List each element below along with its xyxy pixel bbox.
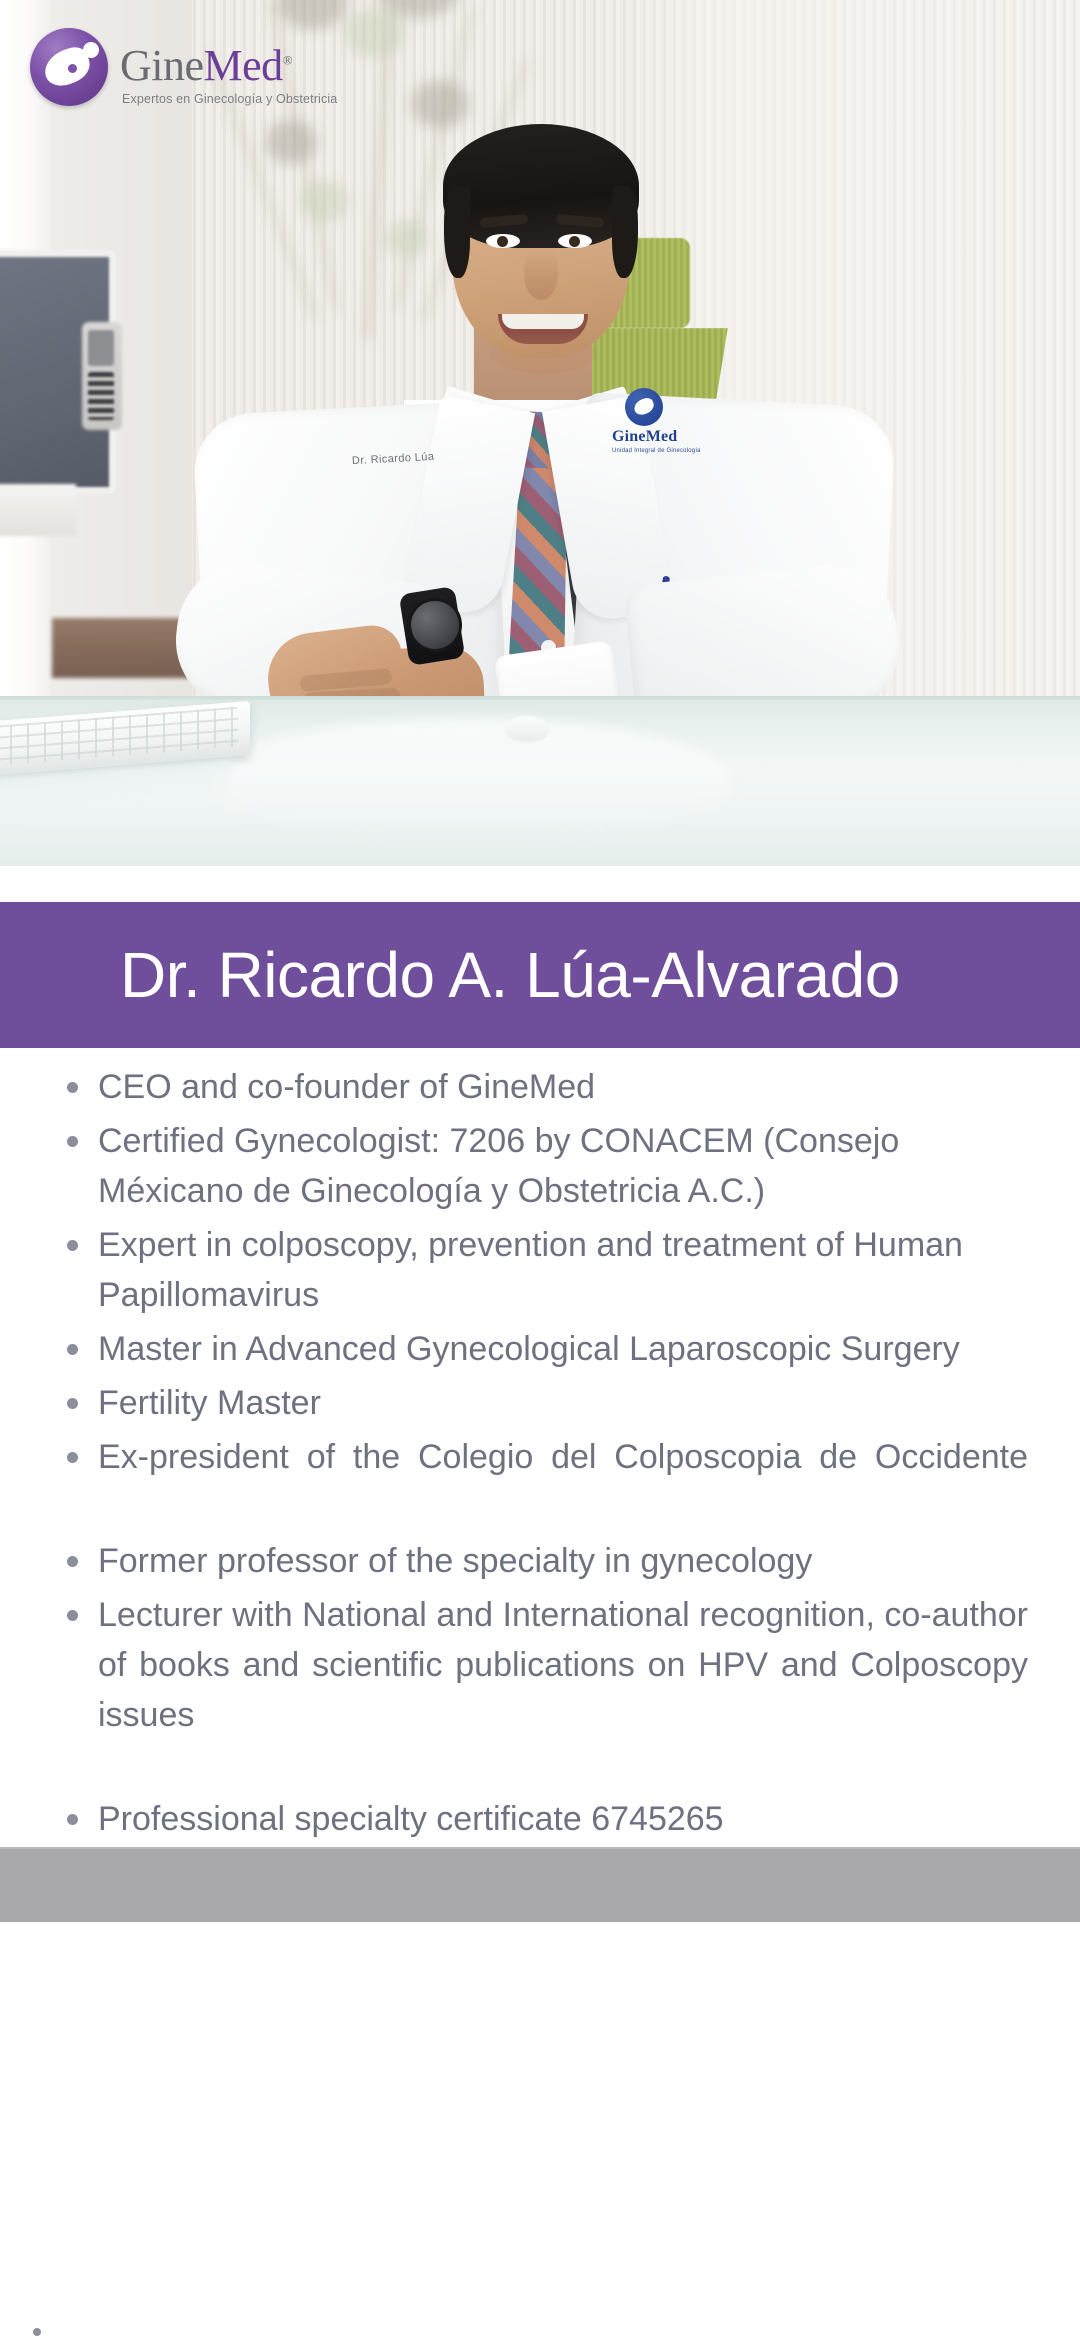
- bullet-icon: [67, 1240, 78, 1251]
- footer-bar: [0, 1847, 1080, 1922]
- credentials-section: CEO and co-founder of GineMedCertified G…: [0, 1048, 1080, 1847]
- credential-item: Certified Gynecologist: 7206 by CONACEM …: [98, 1116, 1028, 1216]
- chin: [490, 330, 596, 374]
- pupil: [497, 236, 508, 247]
- credential-item: Ex-president of the Colegio del Colposco…: [98, 1432, 1028, 1532]
- hair: [443, 124, 639, 248]
- brand-wordmark: GineMed®: [120, 44, 292, 88]
- credential-text: Ex-president of the Colegio del Colposco…: [98, 1438, 1028, 1476]
- credential-text: Master in Advanced Gynecological Laparos…: [98, 1330, 960, 1368]
- credential-text: Professional specialty certificate 67452…: [98, 1800, 724, 1838]
- computer-mouse-icon: [505, 716, 549, 742]
- desk-reflection: [210, 718, 730, 838]
- brand-name-part2: Med: [204, 41, 283, 90]
- coat-ginemed-logo-icon: [625, 388, 663, 426]
- credentials-list: CEO and co-founder of GineMedCertified G…: [0, 1062, 1080, 1844]
- name-banner: Dr. Ricardo A. Lúa-Alvarado: [0, 902, 1080, 1048]
- bullet-icon: [67, 1344, 78, 1355]
- droplet-inner-dot: [68, 64, 77, 73]
- stray-dot-artifact: [33, 2328, 41, 2336]
- eye-right: [558, 234, 592, 248]
- credential-text: Fertility Master: [98, 1384, 321, 1422]
- credential-text: Certified Gynecologist: 7206 by CONACEM …: [98, 1122, 899, 1210]
- brand-name-part1: Gine: [120, 41, 204, 90]
- droplet-outer-dot: [83, 42, 99, 58]
- bullet-icon: [67, 1556, 78, 1567]
- hair-side-right: [612, 186, 638, 278]
- bullet-icon: [67, 1814, 78, 1825]
- doctor-photo: Dr. Ricardo Lúa GineMed Unidad Integral …: [0, 0, 1080, 866]
- nose: [524, 248, 558, 300]
- brand-tagline: Expertos en Ginecología y Obstetricia: [122, 92, 337, 106]
- coat-logo-text: GineMed: [612, 428, 677, 446]
- teeth: [502, 314, 584, 329]
- eye-left: [486, 234, 520, 248]
- credential-text: Expert in colposcopy, prevention and tre…: [98, 1226, 963, 1314]
- ginemed-logo[interactable]: GineMed® Expertos en Ginecología y Obste…: [30, 28, 340, 108]
- credential-item: CEO and co-founder of GineMed: [98, 1062, 1028, 1112]
- ginemed-droplet-icon: [30, 28, 108, 106]
- credential-text: CEO and co-founder of GineMed: [98, 1068, 595, 1106]
- credential-item: Master in Advanced Gynecological Laparos…: [98, 1324, 1028, 1374]
- credential-item: Former professor of the specialty in gyn…: [98, 1536, 1028, 1586]
- credential-item: Lecturer with National and International…: [98, 1590, 1028, 1790]
- credential-item: Professional specialty certificate 67452…: [98, 1794, 1028, 1844]
- bullet-icon: [67, 1082, 78, 1093]
- credential-item: Expert in colposcopy, prevention and tre…: [98, 1220, 1028, 1320]
- bullet-icon: [67, 1452, 78, 1463]
- hair-side-left: [444, 186, 470, 278]
- coat-logo-subtitle: Unidad Integral de Ginecología: [612, 448, 701, 454]
- pupil: [569, 236, 580, 247]
- credential-text: Lecturer with National and International…: [98, 1596, 1028, 1734]
- bullet-icon: [67, 1136, 78, 1147]
- page-title: Dr. Ricardo A. Lúa-Alvarado: [0, 943, 900, 1007]
- registered-mark: ®: [283, 52, 292, 67]
- credential-text: Former professor of the specialty in gyn…: [98, 1542, 812, 1580]
- bullet-icon: [67, 1610, 78, 1621]
- credential-item: Fertility Master: [98, 1378, 1028, 1428]
- bullet-icon: [67, 1398, 78, 1409]
- profile-card-page: Dr. Ricardo Lúa GineMed Unidad Integral …: [0, 0, 1080, 1920]
